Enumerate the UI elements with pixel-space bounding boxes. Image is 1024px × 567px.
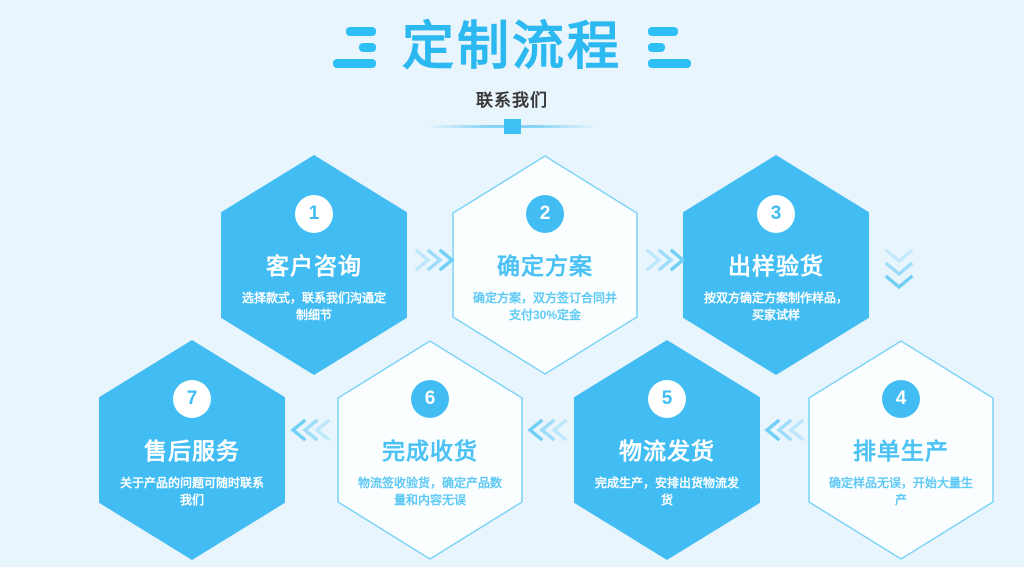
step-title: 客户咨询 (266, 247, 362, 281)
chevron-down-icon-3to4 (878, 243, 920, 301)
step-title: 物流发货 (619, 432, 715, 466)
chevron-right-icon-2to3 (642, 240, 688, 280)
chevron-left-icon-4to5 (762, 410, 808, 450)
step-node-4[interactable]: 4 排单生产 确定样品无误，开始大量生产 (808, 340, 994, 560)
step-title: 出样验货 (728, 247, 824, 281)
step-node-1[interactable]: 1 客户咨询 选择款式，联系我们沟通定制细节 (221, 155, 407, 375)
chevron-left-icon-6to7 (288, 410, 334, 450)
hexagon-outline (452, 155, 638, 375)
page-header: 定制流程 联系我们 (0, 0, 1024, 140)
step-description: 完成生产，安排出货物流发货 (591, 475, 743, 509)
step-number-badge: 3 (757, 195, 795, 233)
step-node-7[interactable]: 7 售后服务 关于产品的问题可随时联系我们 (99, 340, 285, 560)
page-subtitle: 联系我们 (0, 86, 1024, 111)
step-node-5[interactable]: 5 物流发货 完成生产，安排出货物流发货 (574, 340, 760, 560)
step-number-badge: 7 (173, 380, 211, 418)
hexagon-outline (808, 340, 994, 560)
step-number-badge: 5 (648, 380, 686, 418)
step-description: 选择款式，联系我们沟通定制细节 (238, 290, 390, 324)
step-number-badge: 1 (295, 195, 333, 233)
chevron-right-icon-1to2 (411, 240, 457, 280)
stair-bars-right-icon (648, 27, 692, 68)
stair-bars-left-icon (332, 27, 376, 68)
step-title: 售后服务 (144, 432, 240, 466)
page-title: 定制流程 (402, 17, 622, 77)
divider-knob (504, 119, 521, 134)
step-node-6[interactable]: 6 完成收货 物流签收验货，确定产品数量和内容无误 (337, 340, 523, 560)
step-node-2[interactable]: 2 确定方案 确定方案，双方签订合同并支付30%定金 (452, 155, 638, 375)
chevron-left-icon-5to6 (525, 410, 571, 450)
title-row: 定制流程 (0, 14, 1024, 80)
hexagon-outline (337, 340, 523, 560)
step-description: 关于产品的问题可随时联系我们 (116, 475, 268, 509)
step-description: 按双方确定方案制作样品，买家试样 (700, 290, 852, 324)
step-node-3[interactable]: 3 出样验货 按双方确定方案制作样品，买家试样 (683, 155, 869, 375)
